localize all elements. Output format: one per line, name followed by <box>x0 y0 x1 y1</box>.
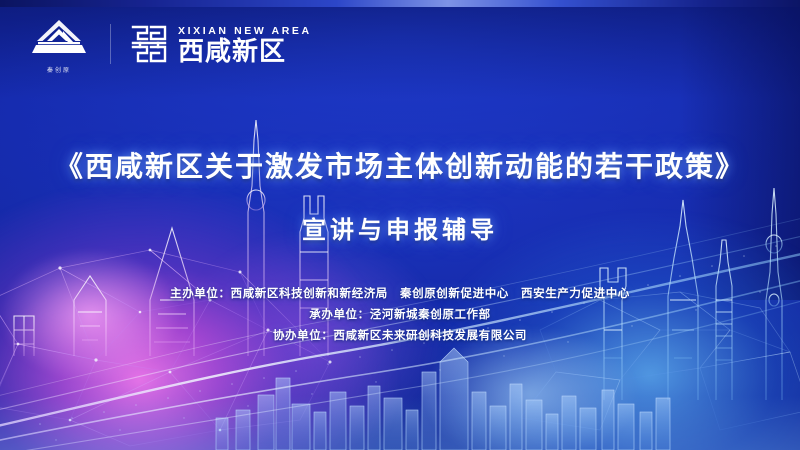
bottom-light-band <box>0 330 800 450</box>
qinchuangyuan-emblem[interactable]: 秦创原 <box>26 14 92 74</box>
presentation-slide: 秦创原 XIXIAN NEW AREA 西咸新区 <box>0 0 800 450</box>
logo-bar: 秦创原 XIXIAN NEW AREA 西咸新区 <box>26 14 312 74</box>
credit-line-host: 承办单位：泾河新城秦创原工作部 <box>24 304 776 325</box>
top-accent-strip <box>0 0 800 7</box>
page-title: 《西咸新区关于激发市场主体创新动能的若干政策》 <box>24 150 776 183</box>
vertical-divider-icon <box>110 24 111 64</box>
page-subtitle: 宣讲与申报辅导 <box>24 210 776 245</box>
slide-content: 《西咸新区关于激发市场主体创新动能的若干政策》 宣讲与申报辅导 主办单位：西咸新… <box>0 150 800 346</box>
emblem-caption: 秦创原 <box>26 68 92 74</box>
credit-line-coorganizer: 协办单位：西咸新区未来研创科技发展有限公司 <box>24 325 776 346</box>
qinchuangyuan-emblem-icon <box>26 14 92 66</box>
credit-line-organizer: 主办单位：西咸新区科技创新和新经济局 秦创原创新促进中心 西安生产力促进中心 <box>24 283 776 304</box>
credits-block: 主办单位：西咸新区科技创新和新经济局 秦创原创新促进中心 西安生产力促进中心 承… <box>24 283 776 346</box>
brand-latin-name: XIXIAN NEW AREA <box>178 26 312 37</box>
xixian-brand-lockup[interactable]: XIXIAN NEW AREA 西咸新区 <box>129 23 312 65</box>
xixian-seal-glyph-icon <box>129 23 169 65</box>
brand-chinese-name: 西咸新区 <box>178 39 312 65</box>
